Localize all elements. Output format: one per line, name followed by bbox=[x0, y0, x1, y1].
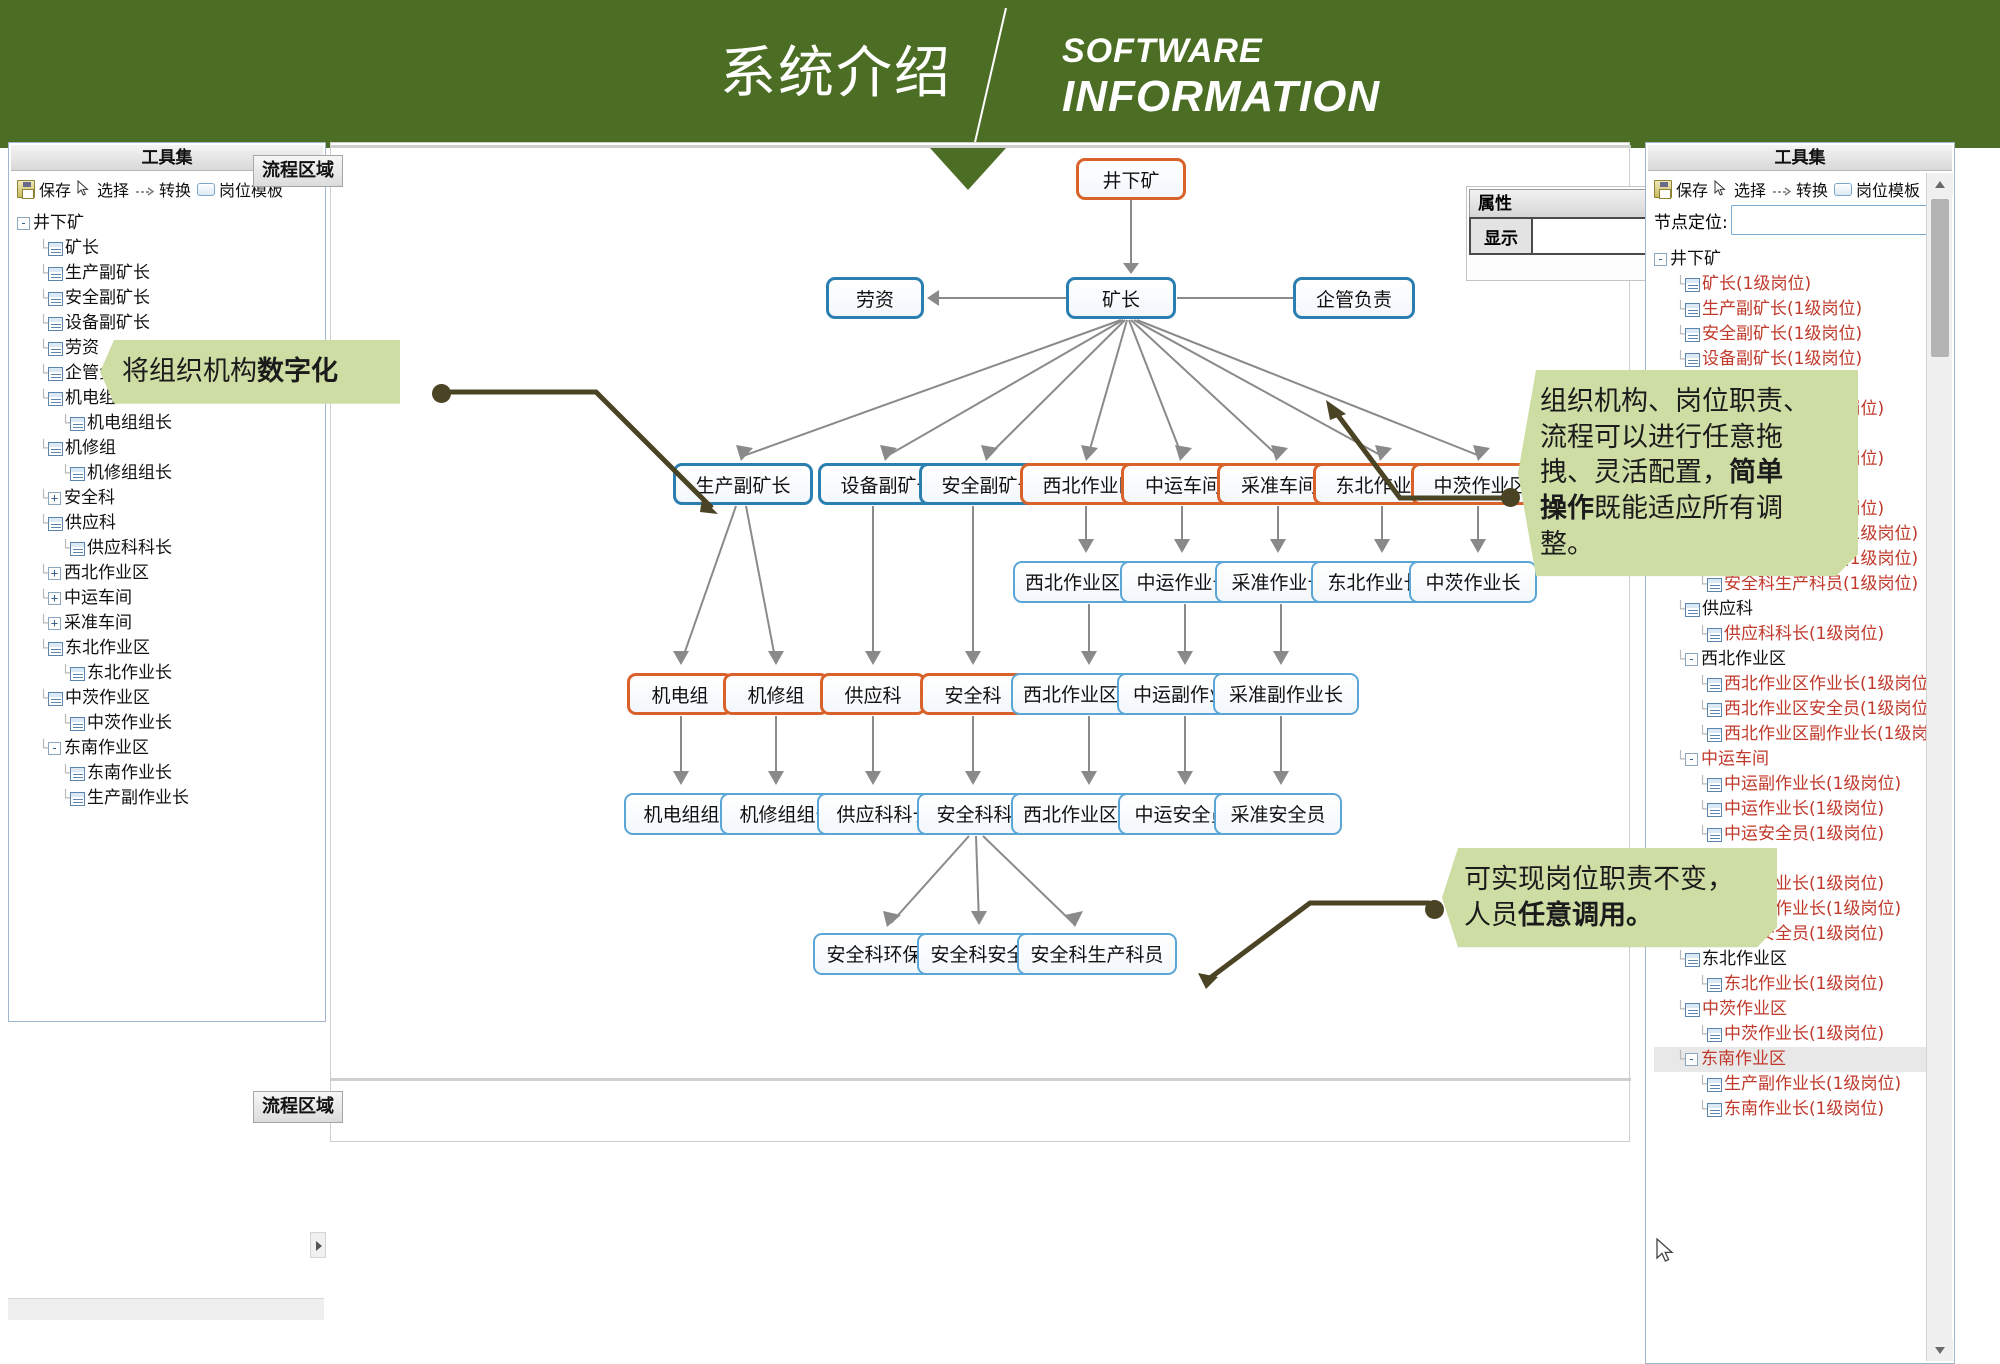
right-tree-item[interactable]: └中茨作业区 bbox=[1654, 997, 1950, 1022]
tree-branch-connector: └ bbox=[1698, 797, 1707, 822]
left-horizontal-scrollbar[interactable] bbox=[8, 1298, 324, 1320]
left-tree-item-label: 安全副矿长 bbox=[65, 288, 150, 308]
left-tree-item-label: 采准车间 bbox=[64, 613, 132, 633]
right-convert-label: 转换 bbox=[1796, 177, 1828, 201]
right-tree-item[interactable]: └矿长(1级岗位) bbox=[1654, 272, 1950, 297]
tree-expand-toggle-icon[interactable]: + bbox=[48, 592, 61, 605]
tree-branch-connector: └ bbox=[1698, 772, 1707, 797]
left-tree-item[interactable]: └+安全科 bbox=[17, 486, 321, 511]
right-panel-title: 工具集 bbox=[1648, 145, 1952, 171]
callout-2-line3: 拽、灵活配置，简单 bbox=[1540, 455, 1838, 491]
tree-branch-connector: └ bbox=[1698, 1072, 1707, 1097]
left-tree-item-label: 安全科 bbox=[64, 488, 115, 508]
diagram-node[interactable]: 井下矿 bbox=[1076, 158, 1186, 200]
left-tree-item[interactable]: -井下矿 bbox=[17, 211, 321, 236]
callout-role-invariant: 可实现岗位职责不变， 人员任意调用。 bbox=[1442, 848, 1777, 947]
tree-branch-connector: └ bbox=[61, 786, 70, 811]
tree-branch-connector: └ bbox=[1698, 972, 1707, 997]
tree-node-icon bbox=[1685, 278, 1700, 292]
tree-node-icon bbox=[1707, 803, 1722, 817]
tree-branch-connector: └ bbox=[1698, 1022, 1707, 1047]
left-convert-label: 转换 bbox=[159, 177, 191, 201]
tree-collapse-toggle-icon[interactable]: - bbox=[1685, 753, 1698, 766]
right-tree-item[interactable]: └供应科 bbox=[1654, 597, 1950, 622]
region-tab-top[interactable]: 流程区域 bbox=[253, 155, 343, 187]
tree-node-icon bbox=[1707, 628, 1722, 642]
tree-branch-connector: └ bbox=[61, 711, 70, 736]
callout-3-line2: 人员任意调用。 bbox=[1464, 898, 1757, 934]
banner-title-chinese: 系统介绍 bbox=[720, 28, 952, 109]
diagram-node-label: 企管负责 bbox=[1316, 289, 1392, 311]
callout-1-plain: 将组织机构 bbox=[122, 356, 257, 387]
right-tree-item-label: 中运副作业长(1级岗位) bbox=[1724, 774, 1901, 794]
callout-flexible-config: 组织机构、岗位职责、 流程可以进行任意拖 拽、灵活配置，简单 操作既能适应所有调… bbox=[1518, 370, 1858, 576]
tree-node-icon bbox=[1707, 1078, 1722, 1092]
tree-branch-connector: └ bbox=[61, 536, 70, 561]
left-tree-item[interactable]: └-东南作业区 bbox=[17, 736, 321, 761]
callout-3-line1: 可实现岗位职责不变， bbox=[1464, 862, 1757, 898]
tree-node-icon bbox=[48, 367, 63, 381]
callout-1-bold: 数字化 bbox=[257, 356, 338, 387]
right-tree-item[interactable]: └西北作业区副作业长(1级岗位) bbox=[1654, 722, 1950, 747]
right-post-template-label: 岗位模板 bbox=[1856, 177, 1920, 201]
left-tree-item[interactable]: └供应科 bbox=[17, 511, 321, 536]
tree-node-icon bbox=[1707, 978, 1722, 992]
left-tree-item[interactable]: └供应科科长 bbox=[17, 536, 321, 561]
left-tree-item-label: 机电组组长 bbox=[87, 413, 172, 433]
right-toolset-panel: 工具集 保存 选择 转换 岗位模板 bbox=[1645, 142, 1955, 1364]
post-template-icon bbox=[197, 183, 215, 196]
tree-branch-connector: └ bbox=[39, 336, 48, 361]
convert-arrow-icon bbox=[1772, 182, 1792, 196]
diagram-node-label: 中茨作业长 bbox=[1425, 572, 1520, 594]
tree-branch-connector: └ bbox=[39, 611, 48, 636]
right-save-label: 保存 bbox=[1676, 177, 1708, 201]
tree-branch-connector: └ bbox=[39, 311, 48, 336]
callout-2-anchor-dot bbox=[1501, 488, 1520, 507]
canvas-collapse-handle[interactable] bbox=[310, 1232, 326, 1258]
right-tree-item-label: 矿长(1级岗位) bbox=[1702, 274, 1811, 294]
tree-node-icon bbox=[70, 542, 85, 556]
left-tree-item[interactable]: └机电组组长 bbox=[17, 411, 321, 436]
tree-node-icon bbox=[1707, 1028, 1722, 1042]
scroll-down-arrow[interactable] bbox=[1927, 1339, 1953, 1361]
tree-node-icon bbox=[1685, 353, 1700, 367]
right-convert-button[interactable]: 转换 bbox=[1772, 177, 1828, 201]
left-tree-item-label: 东南作业长 bbox=[87, 763, 172, 783]
right-tree-item[interactable]: └东南作业长(1级岗位) bbox=[1654, 1097, 1950, 1122]
right-tree-item[interactable]: └中运副作业长(1级岗位) bbox=[1654, 772, 1950, 797]
tree-node-icon bbox=[1685, 953, 1700, 967]
right-tree-item-label: 供应科科长(1级岗位) bbox=[1724, 624, 1884, 644]
tree-node-icon bbox=[1685, 1003, 1700, 1017]
right-tree-item-label: 井下矿 bbox=[1670, 249, 1721, 269]
left-tree-item-label: 中茨作业长 bbox=[87, 713, 172, 733]
left-tree-item-label: 机电组 bbox=[65, 388, 116, 408]
left-tree-item-label: 生产副作业长 bbox=[87, 788, 189, 808]
left-toolset-panel: 工具集 保存 选择 转换 岗位模板 -井下矿 bbox=[8, 142, 326, 1022]
right-tree-item-label: 中运车间 bbox=[1701, 749, 1769, 769]
right-tree-item-label: 供应科 bbox=[1702, 599, 1753, 619]
left-org-tree[interactable]: -井下矿└矿长└生产副矿长└安全副矿长└设备副矿长└劳资└企管负责└机电组└机电… bbox=[9, 203, 325, 815]
right-tree-item[interactable]: └东北作业区 bbox=[1654, 947, 1950, 972]
right-tree-item-label: 安全科生产科员(1级岗位) bbox=[1724, 574, 1918, 594]
left-tree-item-label: 东北作业区 bbox=[65, 638, 150, 658]
right-tree-item-label: 中茨作业长(1级岗位) bbox=[1724, 1024, 1884, 1044]
tree-node-icon bbox=[48, 692, 63, 706]
diagram-node[interactable]: 中茨作业长 bbox=[1409, 561, 1537, 603]
diagram-node-label: 采准副作业长 bbox=[1229, 684, 1343, 706]
diagram-node[interactable]: 采准副作业长 bbox=[1213, 673, 1359, 715]
tree-branch-connector: └ bbox=[39, 261, 48, 286]
diagram-node-label: 安全科生产科员 bbox=[1030, 944, 1163, 966]
right-tree-item-label: 中茨作业区 bbox=[1702, 999, 1787, 1019]
tree-branch-connector: └ bbox=[39, 486, 48, 511]
tree-node-icon bbox=[48, 317, 63, 331]
right-tree-item-label: 西北作业区 bbox=[1701, 649, 1786, 669]
right-tree-item[interactable]: -井下矿 bbox=[1654, 247, 1950, 272]
right-tree-item-label: 东北作业区 bbox=[1702, 949, 1787, 969]
diagram-node-label: 矿长 bbox=[1102, 289, 1140, 311]
tree-branch-connector: └ bbox=[1676, 597, 1685, 622]
diagram-node-label: 机修组 bbox=[747, 685, 804, 707]
tree-branch-connector: └ bbox=[39, 636, 48, 661]
canvas-bottom-rule bbox=[331, 1078, 1631, 1081]
tree-node-icon bbox=[1707, 578, 1722, 592]
left-save-label: 保存 bbox=[39, 177, 71, 201]
left-tree-item[interactable]: └中茨作业区 bbox=[17, 686, 321, 711]
right-tree-item[interactable]: └安全副矿长(1级岗位) bbox=[1654, 322, 1950, 347]
tree-branch-connector: └ bbox=[39, 736, 48, 761]
diagram-node[interactable]: 安全科生产科员 bbox=[1017, 933, 1177, 975]
diagram-node-label: 劳资 bbox=[856, 289, 894, 311]
left-tree-item-label: 矿长 bbox=[65, 238, 99, 258]
left-tree-item[interactable]: └东北作业区 bbox=[17, 636, 321, 661]
tree-branch-connector: └ bbox=[39, 436, 48, 461]
save-icon bbox=[1654, 180, 1672, 198]
left-tree-item-label: 中茨作业区 bbox=[65, 688, 150, 708]
tree-collapse-toggle-icon[interactable]: - bbox=[48, 742, 61, 755]
callout-1-leader-line bbox=[436, 380, 766, 520]
tree-node-icon bbox=[1685, 328, 1700, 342]
banner-pointer-arrow bbox=[930, 148, 1006, 190]
tree-node-icon bbox=[48, 392, 63, 406]
right-tree-item[interactable]: └中运安全员(1级岗位) bbox=[1654, 822, 1950, 847]
left-tree-item-label: 机修组 bbox=[65, 438, 116, 458]
tree-node-icon bbox=[1685, 303, 1700, 317]
tree-branch-connector: └ bbox=[1676, 1047, 1685, 1072]
tree-node-icon bbox=[48, 267, 63, 281]
right-tree-item-label: 东北作业长(1级岗位) bbox=[1724, 974, 1884, 994]
callout-2-line1: 组织机构、岗位职责、 bbox=[1540, 384, 1838, 420]
right-tree-item-label: 西北作业区副作业长(1级岗位) bbox=[1724, 724, 1952, 744]
right-select-label: 选择 bbox=[1734, 177, 1766, 201]
node-locator-row: 节点定位: bbox=[1646, 203, 1954, 235]
select-cursor-icon bbox=[1714, 180, 1730, 198]
left-tree-item-label: 供应科 bbox=[65, 513, 116, 533]
tree-branch-connector: └ bbox=[1676, 747, 1685, 772]
tree-branch-connector: └ bbox=[1698, 822, 1707, 847]
diagram-node-label: 井下矿 bbox=[1102, 170, 1159, 192]
left-tree-item-label: 井下矿 bbox=[33, 213, 84, 233]
select-cursor-icon bbox=[77, 180, 93, 198]
left-tree-item-label: 东南作业区 bbox=[64, 738, 149, 758]
left-save-button[interactable]: 保存 bbox=[17, 177, 71, 201]
tree-collapse-toggle-icon[interactable]: - bbox=[1685, 653, 1698, 666]
diagram-node[interactable]: 矿长 bbox=[1066, 277, 1176, 319]
page-header-banner: 系统介绍 SOFTWARE INFORMATION bbox=[0, 0, 2000, 148]
tree-node-icon bbox=[70, 717, 85, 731]
right-tree-item[interactable]: └设备副矿长(1级岗位) bbox=[1654, 347, 1950, 372]
right-tree-item[interactable]: └-西北作业区 bbox=[1654, 647, 1950, 672]
callout-1-anchor-dot bbox=[432, 384, 451, 403]
right-panel-toolbar: 保存 选择 转换 岗位模板 bbox=[1646, 171, 1954, 203]
banner-title-english-line2: INFORMATION bbox=[1062, 72, 1380, 122]
tree-node-icon bbox=[1707, 1103, 1722, 1117]
tree-node-icon bbox=[48, 517, 63, 531]
right-tree-item-label: 安全副矿长(1级岗位) bbox=[1702, 324, 1862, 344]
left-tree-item[interactable]: └+采准车间 bbox=[17, 611, 321, 636]
callout-2-leader-line bbox=[1300, 388, 1515, 518]
right-tree-item[interactable]: └西北作业区作业长(1级岗位) bbox=[1654, 672, 1950, 697]
left-tree-item[interactable]: └生产副矿长 bbox=[17, 261, 321, 286]
diagram-node-label: 机电组 bbox=[651, 685, 708, 707]
tree-branch-connector: └ bbox=[1676, 272, 1685, 297]
tree-node-icon bbox=[70, 767, 85, 781]
left-tree-item[interactable]: └矿长 bbox=[17, 236, 321, 261]
diagram-node[interactable]: 采准安全员 bbox=[1214, 793, 1342, 835]
tree-branch-connector: └ bbox=[1676, 347, 1685, 372]
right-tree-item-label: 生产副矿长(1级岗位) bbox=[1702, 299, 1862, 319]
tree-branch-connector: └ bbox=[39, 361, 48, 386]
tree-collapse-toggle-icon[interactable]: - bbox=[1654, 253, 1667, 266]
tree-expand-toggle-icon[interactable]: + bbox=[48, 567, 61, 580]
tree-node-icon bbox=[70, 667, 85, 681]
tree-branch-connector: └ bbox=[1698, 672, 1707, 697]
tree-branch-connector: └ bbox=[1676, 997, 1685, 1022]
right-tree-item[interactable]: └东北作业长(1级岗位) bbox=[1654, 972, 1950, 997]
tree-branch-connector: └ bbox=[39, 511, 48, 536]
left-tree-item-label: 劳资 bbox=[65, 338, 99, 358]
tree-node-icon bbox=[70, 792, 85, 806]
scroll-up-arrow[interactable] bbox=[1927, 173, 1953, 195]
left-tree-item[interactable]: └机修组 bbox=[17, 436, 321, 461]
tree-node-icon bbox=[70, 417, 85, 431]
right-tree-item[interactable]: └-东南作业区 bbox=[1654, 1047, 1950, 1072]
right-tree-item-label: 东南作业区 bbox=[1701, 1049, 1786, 1069]
diagram-node-label: 安全科 bbox=[944, 685, 1001, 707]
save-icon bbox=[17, 180, 35, 198]
right-org-tree[interactable]: -井下矿└矿长(1级岗位)└生产副矿长(1级岗位)└安全副矿长(1级岗位)└设备… bbox=[1646, 235, 1954, 1126]
callout-digitalize: 将组织机构数字化 bbox=[100, 340, 400, 404]
chevron-right-icon bbox=[316, 1241, 322, 1251]
right-tree-item[interactable]: └供应科科长(1级岗位) bbox=[1654, 622, 1950, 647]
right-tree-item[interactable]: └西北作业区安全员(1级岗位) bbox=[1654, 697, 1950, 722]
banner-title-english-line1: SOFTWARE bbox=[1062, 32, 1263, 71]
callout-3-anchor-dot bbox=[1425, 900, 1444, 919]
tree-branch-connector: └ bbox=[1698, 697, 1707, 722]
tree-branch-connector: └ bbox=[39, 561, 48, 586]
application-screenshot: 工具集 保存 选择 转换 岗位模板 -井下矿 bbox=[0, 148, 2000, 1364]
tree-expand-toggle-icon[interactable]: + bbox=[48, 492, 61, 505]
tree-node-icon bbox=[1707, 703, 1722, 717]
diagram-node[interactable]: 机电组 bbox=[627, 673, 733, 715]
mouse-cursor-icon bbox=[1656, 1238, 1674, 1268]
tree-branch-connector: └ bbox=[1676, 947, 1685, 972]
node-locator-label: 节点定位: bbox=[1654, 208, 1728, 233]
right-tree-item-label: 设备副矿长(1级岗位) bbox=[1702, 349, 1862, 369]
left-tree-item-label: 东北作业长 bbox=[87, 663, 172, 683]
left-tree-item-label: 供应科科长 bbox=[87, 538, 172, 558]
left-tree-item-label: 生产副矿长 bbox=[65, 263, 150, 283]
tree-node-icon bbox=[48, 292, 63, 306]
diagram-node-label: 采准安全员 bbox=[1230, 804, 1325, 826]
tree-branch-connector: └ bbox=[1698, 1097, 1707, 1122]
tree-collapse-toggle-icon[interactable]: - bbox=[1685, 1053, 1698, 1066]
left-select-label: 选择 bbox=[97, 177, 129, 201]
tree-branch-connector: └ bbox=[39, 386, 48, 411]
post-template-icon bbox=[1834, 183, 1852, 196]
tree-branch-connector: └ bbox=[1698, 722, 1707, 747]
tree-branch-connector: └ bbox=[61, 461, 70, 486]
right-tree-item-label: 西北作业区安全员(1级岗位) bbox=[1724, 699, 1935, 719]
left-tree-item[interactable]: └东北作业长 bbox=[17, 661, 321, 686]
right-panel-scrollbar[interactable] bbox=[1926, 173, 1952, 1361]
diagram-node[interactable]: 机修组 bbox=[723, 673, 829, 715]
tree-node-icon bbox=[1707, 828, 1722, 842]
tree-node-icon bbox=[48, 642, 63, 656]
right-post-template-button[interactable]: 岗位模板 bbox=[1834, 177, 1920, 201]
left-tree-item[interactable]: └设备副矿长 bbox=[17, 311, 321, 336]
tree-node-icon bbox=[1707, 728, 1722, 742]
right-tree-item[interactable]: └生产副矿长(1级岗位) bbox=[1654, 297, 1950, 322]
right-tree-item-label: 中运作业长(1级岗位) bbox=[1724, 799, 1884, 819]
left-tree-item[interactable]: └生产副作业长 bbox=[17, 786, 321, 811]
tree-collapse-toggle-icon[interactable]: - bbox=[17, 217, 30, 230]
tree-branch-connector: └ bbox=[61, 761, 70, 786]
left-tree-item-label: 西北作业区 bbox=[64, 563, 149, 583]
tree-branch-connector: └ bbox=[39, 586, 48, 611]
left-tree-item-label: 中运车间 bbox=[64, 588, 132, 608]
left-tree-item[interactable]: └机修组组长 bbox=[17, 461, 321, 486]
left-tree-item[interactable]: └中茨作业长 bbox=[17, 711, 321, 736]
tree-node-icon bbox=[1707, 778, 1722, 792]
tree-node-icon bbox=[48, 442, 63, 456]
region-tab-bottom[interactable]: 流程区域 bbox=[253, 1091, 343, 1123]
diagram-node[interactable]: 供应科 bbox=[820, 673, 926, 715]
left-convert-button[interactable]: 转换 bbox=[135, 177, 191, 201]
tree-node-icon bbox=[48, 242, 63, 256]
tree-branch-connector: └ bbox=[39, 286, 48, 311]
right-save-button[interactable]: 保存 bbox=[1654, 177, 1708, 201]
right-tree-item[interactable]: └-中运车间 bbox=[1654, 747, 1950, 772]
tree-branch-connector: └ bbox=[39, 686, 48, 711]
left-tree-item-label: 设备副矿长 bbox=[65, 313, 150, 333]
left-tree-item[interactable]: └东南作业长 bbox=[17, 761, 321, 786]
right-tree-item[interactable]: └中茨作业长(1级岗位) bbox=[1654, 1022, 1950, 1047]
convert-arrow-icon bbox=[135, 182, 155, 196]
tree-branch-connector: └ bbox=[61, 411, 70, 436]
tree-node-icon bbox=[1685, 603, 1700, 617]
tree-branch-connector: └ bbox=[39, 236, 48, 261]
scrollbar-thumb[interactable] bbox=[1931, 199, 1949, 357]
tree-node-icon bbox=[1707, 678, 1722, 692]
tree-node-icon bbox=[48, 342, 63, 356]
right-tree-item-label: 中运安全员(1级岗位) bbox=[1724, 824, 1884, 844]
tree-branch-connector: └ bbox=[1676, 322, 1685, 347]
right-select-button[interactable]: 选择 bbox=[1714, 177, 1766, 201]
left-tree-item[interactable]: └+西北作业区 bbox=[17, 561, 321, 586]
callout-2-line4: 操作既能适应所有调 bbox=[1540, 491, 1838, 527]
tree-branch-connector: └ bbox=[1676, 647, 1685, 672]
left-select-button[interactable]: 选择 bbox=[77, 177, 129, 201]
right-tree-item-label: 西北作业区作业长(1级岗位) bbox=[1724, 674, 1935, 694]
tree-branch-connector: └ bbox=[1698, 622, 1707, 647]
right-tree-item[interactable]: └生产副作业长(1级岗位) bbox=[1654, 1072, 1950, 1097]
left-tree-item[interactable]: └+中运车间 bbox=[17, 586, 321, 611]
diagram-node[interactable]: 劳资 bbox=[826, 277, 924, 319]
right-tree-item[interactable]: └中运作业长(1级岗位) bbox=[1654, 797, 1950, 822]
callout-2-line2: 流程可以进行任意拖 bbox=[1540, 420, 1838, 456]
right-tree-item-label: 东南作业长(1级岗位) bbox=[1724, 1099, 1884, 1119]
diagram-node-label: 供应科 bbox=[844, 685, 901, 707]
left-tree-item-label: 机修组组长 bbox=[87, 463, 172, 483]
right-tree-item-label: 生产副作业长(1级岗位) bbox=[1724, 1074, 1901, 1094]
tree-branch-connector: └ bbox=[1676, 297, 1685, 322]
tree-branch-connector: └ bbox=[61, 661, 70, 686]
left-tree-item[interactable]: └安全副矿长 bbox=[17, 286, 321, 311]
node-locator-select[interactable] bbox=[1731, 205, 1948, 235]
callout-2-line5: 整。 bbox=[1540, 527, 1838, 563]
callout-3-leader-line bbox=[1180, 893, 1440, 1003]
properties-key-label: 显示 bbox=[1471, 219, 1533, 253]
tree-node-icon bbox=[70, 467, 85, 481]
diagram-node-label: 中运车间 bbox=[1145, 475, 1221, 497]
tree-expand-toggle-icon[interactable]: + bbox=[48, 617, 61, 630]
diagram-node[interactable]: 企管负责 bbox=[1293, 277, 1415, 319]
